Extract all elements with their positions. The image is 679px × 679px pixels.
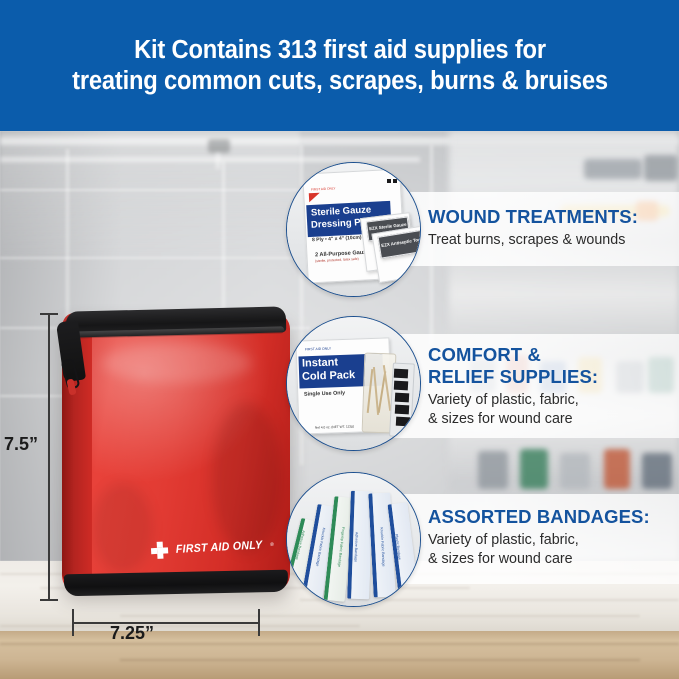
- callout-text-assorted-bandages: ASSORTED BANDAGES: Variety of plastic, f…: [428, 506, 650, 568]
- bag-bottom-trim: [64, 570, 288, 597]
- callout-text-wound-treatments: WOUND TREATMENTS: Treat burns, scrapes &…: [428, 206, 638, 250]
- height-dimension-cap-top: [40, 313, 58, 315]
- shelf-item: [520, 449, 548, 489]
- shelf-item: [560, 453, 590, 489]
- width-dimension-cap-right: [258, 609, 260, 636]
- edge-grain: [0, 643, 679, 645]
- shelf-item: [478, 451, 508, 489]
- shelf-item: [642, 453, 672, 489]
- callout-desc-comfort-relief-line2: & sizes for wound care: [428, 410, 598, 429]
- callout-desc-comfort-relief-line1: Variety of plastic, fabric,: [428, 391, 598, 410]
- width-dimension-cap-left: [72, 609, 74, 636]
- product-photo-wound-treatments: FIRST AID ONLY Sterile Gauze Dressing Pa…: [286, 162, 421, 297]
- first-aid-cross-icon: [151, 541, 169, 559]
- cold-pack-title-line1: Instant: [302, 356, 338, 369]
- width-dimension-line: [72, 622, 259, 624]
- pill-packet: [396, 417, 410, 427]
- shelf-item: [644, 155, 678, 181]
- header-title-line1: Kit Contains 313 first aid supplies for: [61, 35, 619, 66]
- pill-packet: [395, 393, 409, 403]
- shelf-item: [604, 449, 630, 489]
- pouch-mark: [387, 179, 391, 183]
- header-title-line2: treating common cuts, scrapes, burns & b…: [61, 66, 619, 97]
- height-dimension-label: 7.5”: [4, 434, 38, 455]
- garage-door-seam: [0, 189, 310, 191]
- edge-grain: [120, 659, 640, 661]
- first-aid-kit-bag: FIRST AID ONLY ®: [62, 313, 290, 590]
- cold-pack-title-line2: Cold Pack: [302, 369, 356, 383]
- product-photo-comfort-relief: FIRST AID ONLY Instant Cold Pack Single …: [286, 316, 421, 451]
- width-dimension-label: 7.25”: [110, 623, 154, 644]
- product-infographic: Kit Contains 313 first aid supplies for …: [0, 0, 679, 679]
- bag-fold: [212, 403, 282, 553]
- pill-packet: [394, 369, 408, 379]
- header-banner: Kit Contains 313 first aid supplies for …: [0, 0, 679, 131]
- pill-packet: [394, 381, 408, 391]
- garage-door-seam: [0, 257, 310, 259]
- brand-logo-trademark: ®: [270, 541, 274, 547]
- wood-grain: [0, 625, 360, 627]
- pill-packet: [395, 405, 409, 415]
- height-dimension-cap-bottom: [40, 599, 58, 601]
- callout-text-comfort-relief: COMFORT & RELIEF SUPPLIES: Variety of pl…: [428, 344, 598, 428]
- height-dimension-line: [48, 313, 50, 600]
- callout-desc-assorted-bandages-line2: & sizes for wound care: [428, 550, 650, 569]
- product-photo-assorted-bandages: Adhesive Bandage Knuckle Fabric Bandage …: [286, 472, 421, 607]
- callout-title-wound-treatments: WOUND TREATMENTS:: [428, 206, 638, 228]
- pouch-mark: [393, 179, 397, 183]
- bag-fold: [92, 483, 152, 573]
- callout-title-comfort-relief-line1: COMFORT &: [428, 344, 598, 366]
- table-front-edge: [0, 631, 679, 679]
- callout-title-comfort-relief-line2: RELIEF SUPPLIES:: [428, 366, 598, 388]
- shelf-item: [584, 159, 642, 179]
- package-corner-flag: [309, 193, 320, 203]
- bag-fold: [102, 343, 252, 383]
- callout-desc-wound-treatments: Treat burns, scrapes & wounds: [428, 231, 638, 250]
- callout-title-assorted-bandages: ASSORTED BANDAGES:: [428, 506, 650, 528]
- brand-logo-text: FIRST AID ONLY: [176, 539, 263, 556]
- wood-grain: [120, 615, 640, 617]
- callout-desc-assorted-bandages-line1: Variety of plastic, fabric,: [428, 531, 650, 550]
